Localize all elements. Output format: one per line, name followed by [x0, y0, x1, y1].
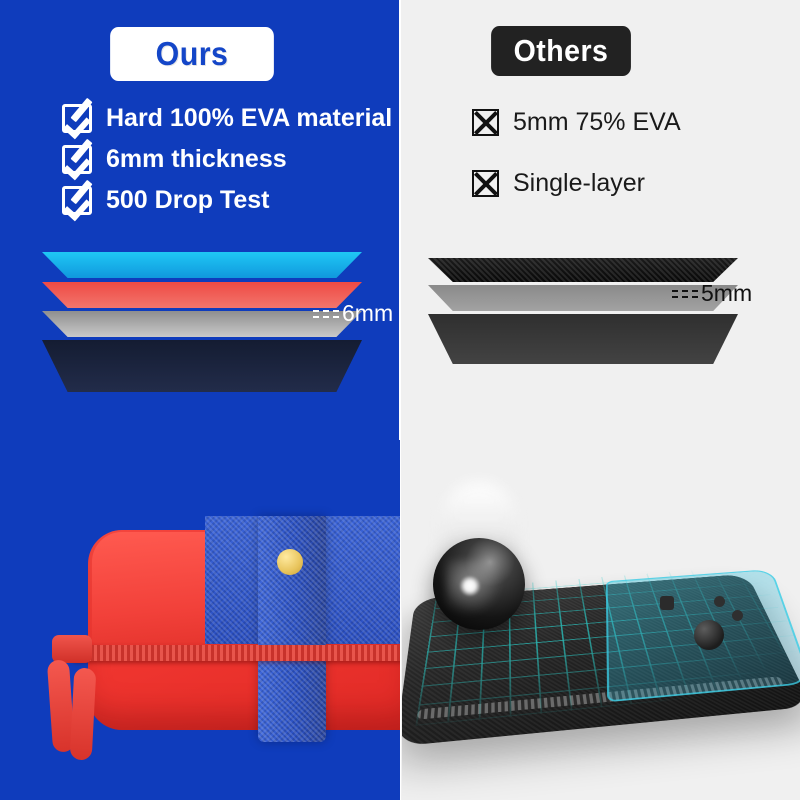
thickness-value: 6mm	[342, 300, 393, 327]
leader-line-icon	[672, 290, 698, 298]
check-icon	[62, 145, 92, 174]
feature-row: Hard 100% EVA material	[62, 104, 392, 133]
zipper-pull	[70, 667, 97, 760]
red-eva-case-photo	[0, 440, 400, 800]
comparison-infographic: Ours Others Hard 100% EVA material 6mm t…	[0, 0, 800, 800]
leader-line-icon	[313, 310, 339, 318]
dpad-icon	[660, 596, 674, 610]
x-icon	[472, 109, 499, 136]
thickness-label-5mm: 5mm	[672, 280, 752, 307]
black-case-drop-test-photo	[402, 440, 800, 800]
dark-gray-layer	[428, 314, 738, 364]
gold-snap-button	[277, 549, 303, 575]
others-feature-list: 5mm 75% EVA Single-layer	[472, 108, 681, 230]
navy-layer	[42, 340, 362, 392]
feature-label: Single-layer	[513, 169, 645, 198]
analog-stick-icon	[694, 620, 724, 650]
face-button-icon	[714, 596, 725, 607]
thickness-label-6mm: 6mm	[313, 300, 393, 327]
red-zipper	[70, 645, 400, 661]
feature-row: 500 Drop Test	[62, 186, 392, 215]
others-layer-stack	[428, 258, 738, 378]
feature-label: 6mm thickness	[106, 145, 287, 174]
black-textured-layer	[428, 258, 738, 282]
feature-label: 5mm 75% EVA	[513, 108, 681, 137]
check-icon	[62, 104, 92, 133]
zipper-head	[52, 635, 92, 663]
others-badge: Others	[491, 26, 631, 76]
feature-label: Hard 100% EVA material	[106, 104, 392, 133]
feature-label: 500 Drop Test	[106, 186, 269, 215]
others-badge-label: Others	[514, 33, 609, 69]
feature-row: 6mm thickness	[62, 145, 392, 174]
ours-badge: Ours	[110, 27, 274, 81]
feature-row: 5mm 75% EVA	[472, 108, 681, 137]
ours-feature-list: Hard 100% EVA material 6mm thickness 500…	[62, 104, 392, 227]
thickness-value: 5mm	[701, 280, 752, 307]
x-icon	[472, 170, 499, 197]
cyan-layer	[42, 252, 362, 278]
check-icon	[62, 186, 92, 215]
ours-badge-label: Ours	[156, 35, 229, 73]
feature-row: Single-layer	[472, 169, 681, 198]
face-button-icon	[732, 610, 743, 621]
ball-specular-glint	[459, 576, 481, 596]
